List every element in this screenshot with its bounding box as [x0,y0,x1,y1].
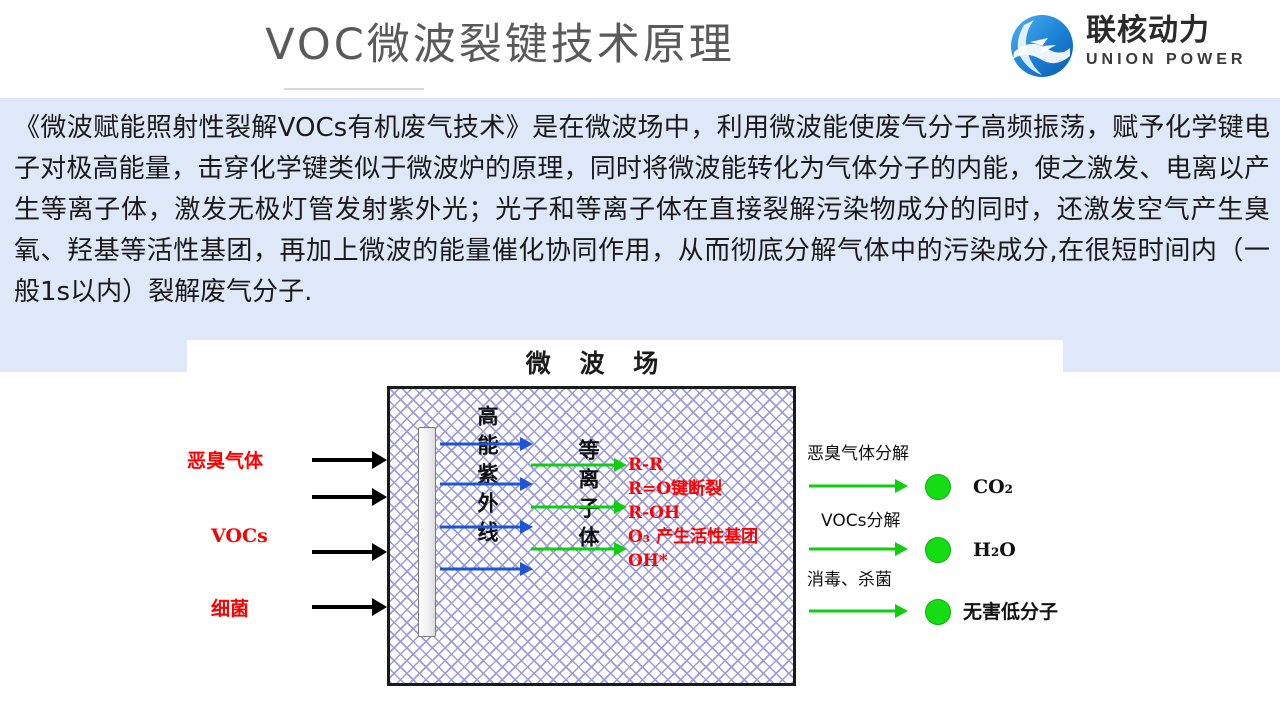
formula-3: O₃ 产生活性基团 [628,526,758,549]
output-product-2: H₂O [973,539,1016,561]
output-dot-1 [925,474,951,500]
process-diagram: 微 波 场 恶臭气体 VOCs 细菌 高能紫外线 等离子体 [187,340,1063,720]
description-panel: 《微波赋能照射性裂解VOCs有机废气技术》是在微波场中，利用微波能使废气分子高频… [0,98,1280,372]
output-dot-3 [925,599,951,625]
logo-name-cn: 联核动力 [1086,12,1266,50]
input-label-odor-gas: 恶臭气体 [187,450,263,472]
output-dot-2 [925,537,951,563]
output-process-2: VOCs分解 [821,511,900,531]
formula-1: R=O键断裂 [628,478,722,501]
globe-swoosh-icon [1008,12,1076,80]
microwave-field-label: 微 波 场 [437,344,757,380]
formula-2: R-OH [628,502,680,525]
electrodeless-uv-lamp-icon [418,427,436,637]
microwave-chamber: 高能紫外线 等离子体 [387,386,796,686]
logo-text-block: 联核动力 UNION POWER [1086,12,1266,70]
slide: VOC微波裂键技术原理 [0,0,1280,720]
output-product-1: CO₂ [973,476,1013,498]
formula-4: OH* [628,550,668,573]
title-underline [284,88,424,90]
description-paragraph: 《微波赋能照射性裂解VOCs有机废气技术》是在微波场中，利用微波能使废气分子高频… [14,108,1270,313]
page-title: VOC微波裂键技术原理 [0,16,1000,74]
output-process-3: 消毒、杀菌 [807,570,892,590]
company-logo: 联核动力 UNION POWER [1008,10,1266,84]
output-product-3: 无害低分子 [963,601,1058,623]
input-label-bacteria: 细菌 [211,598,249,620]
slide-header: VOC微波裂键技术原理 [0,0,1280,98]
output-process-1: 恶臭气体分解 [807,444,909,464]
input-label-vocs: VOCs [211,525,268,547]
logo-name-en: UNION POWER [1086,50,1266,70]
formula-0: R-R [628,454,663,477]
